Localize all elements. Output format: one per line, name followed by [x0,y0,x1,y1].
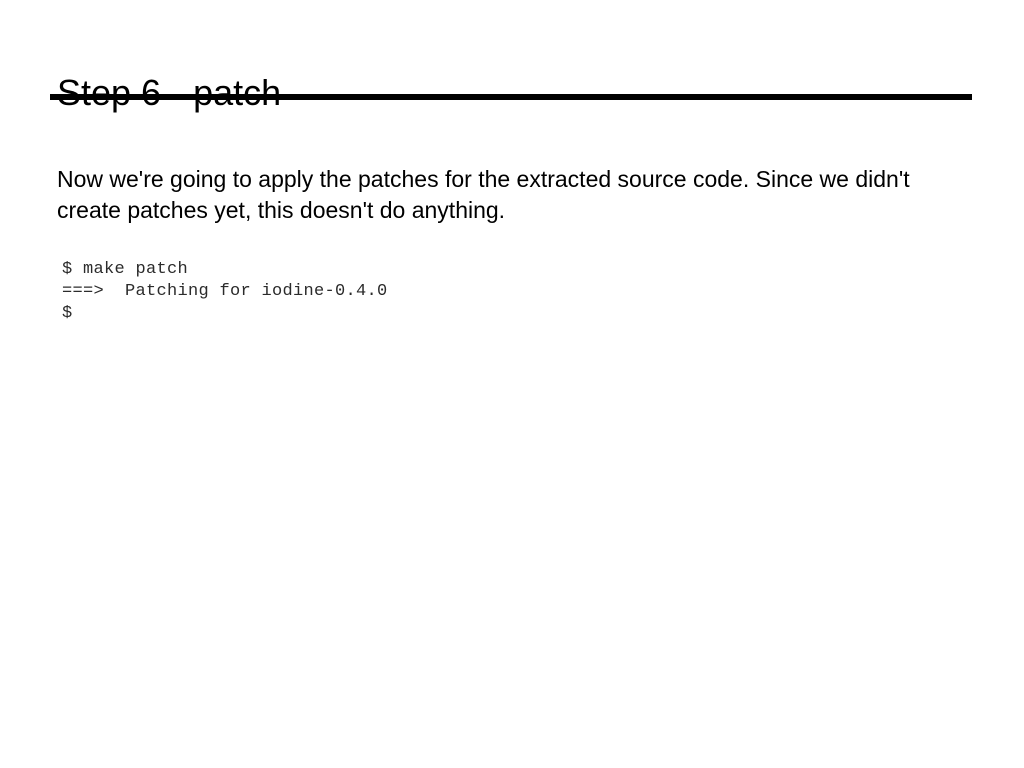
console-output-block: $ make patch===> Patching for iodine-0.4… [62,259,388,325]
console-line-status: ===> Patching for iodine-0.4.0 [62,281,388,303]
title-divider [50,94,972,100]
slide-canvas: Step 6 - patch Now we're going to apply … [0,0,1024,768]
console-line-command: $ make patch [62,259,388,281]
body-paragraph: Now we're going to apply the patches for… [57,164,947,226]
console-line-prompt: $ [62,303,388,325]
